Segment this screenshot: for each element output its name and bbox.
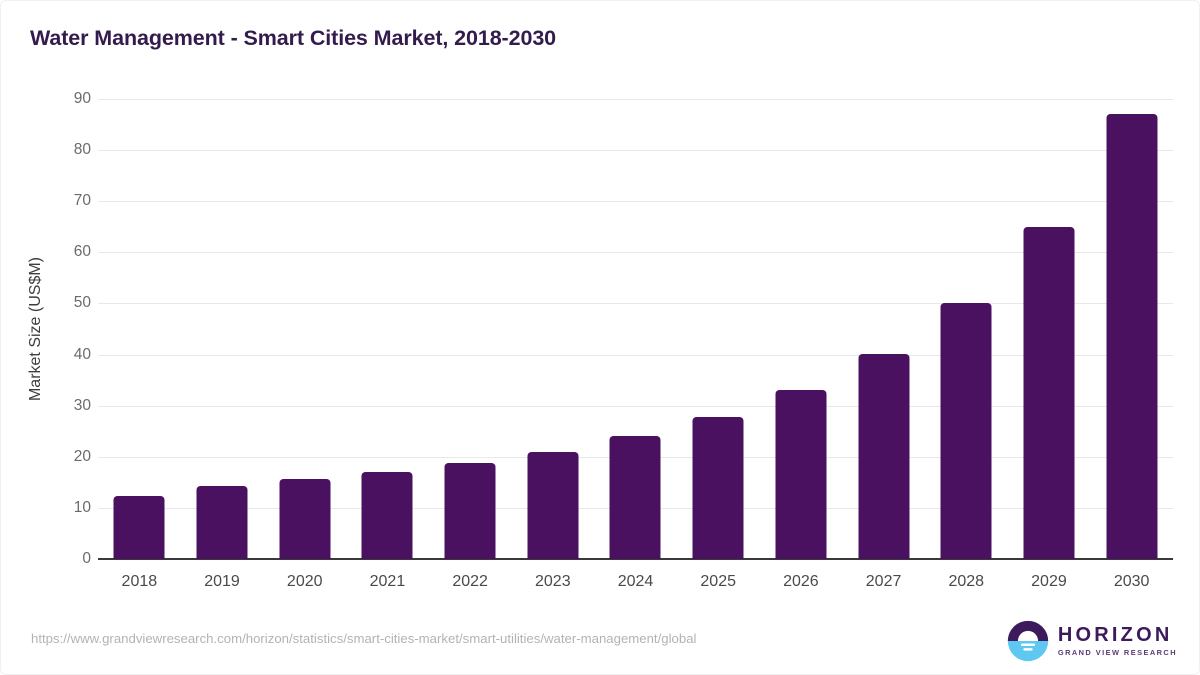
y-axis-tick-label: 60 — [31, 243, 91, 261]
x-axis-tick-label: 2026 — [783, 573, 819, 591]
bar-slot — [594, 99, 677, 559]
bar-slot — [925, 99, 1008, 559]
bar[interactable] — [1106, 114, 1157, 559]
y-axis-tick-label: 90 — [31, 90, 91, 108]
bar[interactable] — [279, 479, 330, 559]
x-axis-tick-label: 2024 — [618, 573, 654, 591]
y-axis-tick-label: 40 — [31, 346, 91, 364]
x-axis-tick-label: 2028 — [948, 573, 984, 591]
y-axis-tick-label: 80 — [31, 141, 91, 159]
page-title: Water Management - Smart Cities Market, … — [30, 26, 556, 51]
bars-layer — [98, 99, 1173, 559]
bar-slot — [1090, 99, 1173, 559]
bar[interactable] — [693, 417, 744, 559]
bar-slot — [677, 99, 760, 559]
bar-slot — [760, 99, 843, 559]
bar-slot — [263, 99, 346, 559]
x-axis-tick-label: 2020 — [287, 573, 323, 591]
x-axis-tick-label: 2018 — [122, 573, 158, 591]
bar[interactable] — [197, 486, 248, 559]
bar[interactable] — [362, 472, 413, 559]
bar-slot — [429, 99, 512, 559]
bar[interactable] — [1023, 227, 1074, 559]
bar-slot — [511, 99, 594, 559]
logo-wordmark: HORIZON — [1058, 625, 1177, 645]
logo-tagline: GRAND VIEW RESEARCH — [1058, 649, 1177, 656]
bar-slot — [842, 99, 925, 559]
bar[interactable] — [445, 463, 496, 559]
x-axis-tick-label: 2019 — [204, 573, 240, 591]
bar-slot — [98, 99, 181, 559]
x-axis-tick-label: 2027 — [866, 573, 902, 591]
chart-page: Water Management - Smart Cities Market, … — [0, 0, 1200, 675]
horizon-logo[interactable]: HORIZON GRAND VIEW RESEARCH — [1007, 618, 1177, 664]
y-axis-tick-label: 30 — [31, 397, 91, 415]
y-axis-title: Market Size (US$M) — [27, 257, 45, 401]
x-axis-tick-label: 2025 — [700, 573, 736, 591]
bar[interactable] — [114, 496, 165, 559]
bar-slot — [1008, 99, 1091, 559]
x-axis-tick-label: 2021 — [370, 573, 406, 591]
y-axis-tick-label: 70 — [31, 192, 91, 210]
source-url[interactable]: https://www.grandviewresearch.com/horizo… — [31, 631, 696, 646]
bar[interactable] — [941, 303, 992, 559]
x-axis-tick-label: 2029 — [1031, 573, 1067, 591]
y-axis-tick-label: 10 — [31, 499, 91, 517]
x-axis-tick-label: 2022 — [452, 573, 488, 591]
bar[interactable] — [775, 390, 826, 559]
bar[interactable] — [858, 354, 909, 559]
bar[interactable] — [527, 452, 578, 559]
x-axis-tick-label: 2030 — [1114, 573, 1150, 591]
bar[interactable] — [610, 436, 661, 559]
horizon-logo-icon — [1007, 620, 1049, 662]
y-axis-tick-label: 50 — [31, 294, 91, 312]
y-axis-tick-label: 20 — [31, 448, 91, 466]
plot-area: Market Size (US$M) 0102030405060708090 2… — [98, 99, 1173, 559]
bar-slot — [181, 99, 264, 559]
x-axis-tick-label: 2023 — [535, 573, 571, 591]
y-axis-tick-label: 0 — [31, 550, 91, 568]
horizon-logo-text: HORIZON GRAND VIEW RESEARCH — [1058, 625, 1177, 656]
bar-slot — [346, 99, 429, 559]
